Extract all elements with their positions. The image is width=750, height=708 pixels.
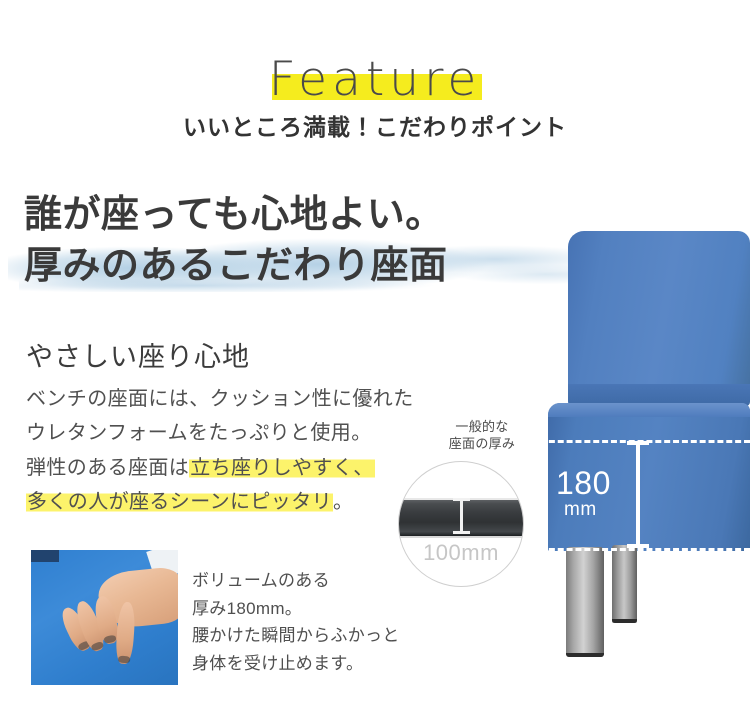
feature-title: Feature <box>0 56 750 103</box>
headline-line-1: 誰が座っても心地よい。 <box>24 190 448 241</box>
body-copy-line-3-plain: 弾性のある座面は <box>26 457 189 479</box>
body-copy-line-3: 弾性のある座面は立ち座りしやすく、 <box>26 451 426 485</box>
comparison-circle-diagram: 100mm <box>398 461 524 587</box>
photo-corner-shadow <box>31 550 59 562</box>
sofa-leg-front <box>566 547 604 657</box>
sofa-seat-top-edge <box>548 403 750 417</box>
feature-subtitle: いいところ満載！こだわりポイント <box>0 108 750 142</box>
headline-line-2: 厚みのあるこだわり座面 <box>24 241 448 292</box>
feature-section-page: Feature いいところ満載！こだわりポイント 誰が座っても心地よい。 厚みの… <box>0 0 750 708</box>
body-copy-line-1: ベンチの座面には、クッション性に優れた <box>26 382 426 416</box>
fingernail <box>118 656 130 664</box>
caption-line-1: ボリュームのある <box>192 567 400 595</box>
fingernail <box>103 635 116 644</box>
measure-dashed-line-bottom <box>540 548 750 551</box>
sofa-leg-rear <box>612 545 637 623</box>
sofa-product-photo: 180 mm <box>512 215 750 708</box>
body-sub-heading: やさしい座り心地 <box>26 335 250 374</box>
page-headline: 誰が座っても心地よい。 厚みのあるこだわり座面 <box>24 190 448 292</box>
measure-ibeam-icon <box>636 441 640 548</box>
feature-header: Feature <box>0 32 750 94</box>
body-copy: ベンチの座面には、クッション性に優れた ウレタンフォームをたっぷりと使用。 弾性… <box>26 382 426 520</box>
sofa-backrest <box>568 231 750 406</box>
seat-thickness-unit: mm <box>564 500 597 519</box>
comparison-value: 100mm <box>399 540 523 566</box>
fingernail <box>91 641 105 652</box>
body-copy-line-4-highlighted: 多くの人が座るシーンにピッタリ <box>26 491 333 513</box>
caption-line-4: 身体を受け止めます。 <box>192 650 400 678</box>
comparison-measure-ibeam-icon <box>460 498 463 534</box>
caption-line-3: 腰かけた瞬間からふかっと <box>192 622 400 650</box>
body-copy-line-2: ウレタンフォームをたっぷりと使用。 <box>26 416 426 450</box>
body-copy-line-4-plain: 。 <box>333 491 353 513</box>
body-copy-line-3-highlighted: 立ち座りしやすく、 <box>189 457 374 479</box>
seat-thickness-value: 180 <box>556 467 611 499</box>
body-copy-line-4: 多くの人が座るシーンにピッタリ。 <box>26 485 426 519</box>
caption-line-2: 厚み180mm。 <box>192 595 400 623</box>
photo-caption: ボリュームのある 厚み180mm。 腰かけた瞬間からふかっと 身体を受け止めます… <box>192 567 400 677</box>
hand-on-cushion-photo <box>31 550 178 685</box>
